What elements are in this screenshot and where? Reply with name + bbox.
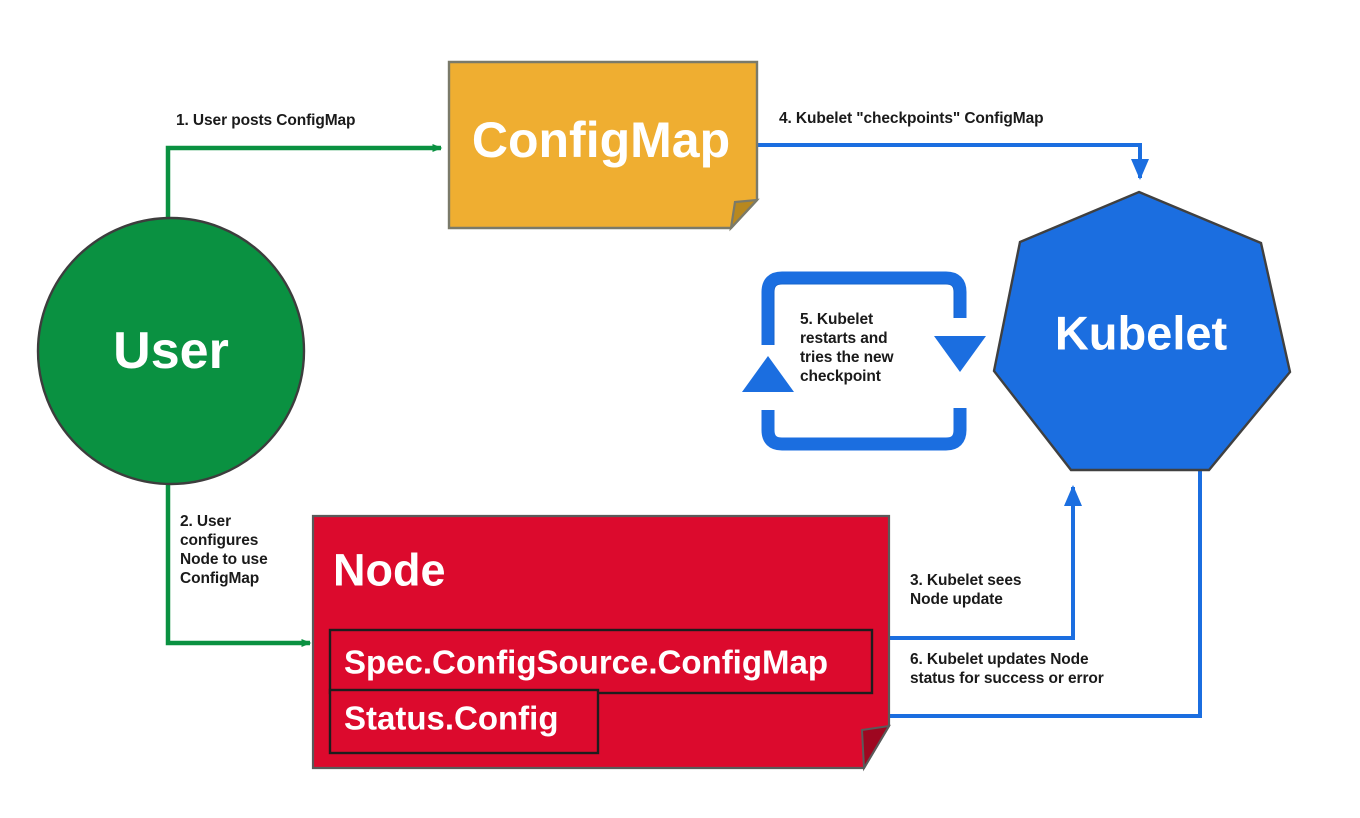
node-node[interactable]: Node Spec.ConfigSource.ConfigMap Status.…: [313, 516, 889, 768]
step-label-4: 4. Kubelet "checkpoints" ConfigMap: [779, 110, 1044, 129]
node-kubelet-label: Kubelet: [1055, 307, 1228, 360]
node-kubelet[interactable]: Kubelet: [994, 192, 1290, 470]
step-label-5: 5. Kubelet restarts and tries the new ch…: [800, 311, 893, 387]
node-user[interactable]: User: [38, 218, 304, 484]
step-label-2: 2. User configures Node to use ConfigMap: [180, 513, 268, 589]
step-label-1: 1. User posts ConfigMap: [176, 112, 355, 131]
field-spec-configsource-configmap-label: Spec.ConfigSource.ConfigMap: [344, 644, 828, 681]
connector-node-spec-to-kubelet: [872, 487, 1073, 638]
field-spec-configsource-configmap[interactable]: Spec.ConfigSource.ConfigMap: [330, 630, 872, 693]
field-status-config-label: Status.Config: [344, 700, 558, 737]
step-label-6: 6. Kubelet updates Node status for succe…: [910, 651, 1104, 689]
field-status-config[interactable]: Status.Config: [330, 690, 598, 753]
step-label-3: 3. Kubelet sees Node update: [910, 572, 1021, 610]
connector-user-to-configmap: [168, 148, 441, 220]
node-configmap-label: ConfigMap: [472, 112, 730, 168]
node-user-label: User: [113, 322, 229, 380]
node-configmap[interactable]: ConfigMap: [449, 62, 757, 228]
node-node-label: Node: [333, 545, 446, 596]
connector-configmap-to-kubelet: [757, 145, 1140, 178]
diagram-canvas: User ConfigMap Kubelet Node Spec.ConfigS…: [0, 0, 1360, 818]
